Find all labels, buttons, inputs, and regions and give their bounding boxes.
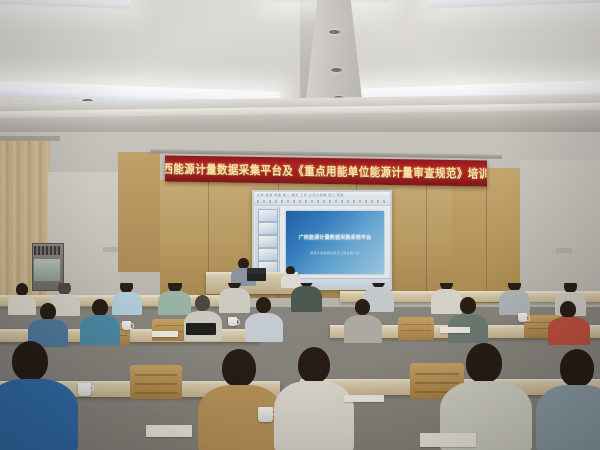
ppt-slide-stage: 广西能源计量数据采集系统平台 能源计量数据采集与上报系统介绍	[281, 207, 388, 278]
slide-subtitle: 能源计量数据采集与上报系统介绍	[286, 251, 384, 255]
banner-text: 广西能源计量数据采集平台及《重点用能单位能源计量审查规范》培训班	[165, 160, 487, 183]
paper-cup	[518, 313, 527, 322]
handout-paper	[344, 395, 384, 402]
curtain-rod	[0, 136, 60, 141]
handout-paper	[440, 327, 470, 333]
cabinet-grill	[34, 246, 60, 255]
audience-area	[0, 283, 600, 450]
paper-cup	[78, 383, 91, 396]
handout-paper	[420, 433, 476, 447]
chair-back	[398, 317, 434, 340]
handout-paper	[152, 331, 178, 337]
slide-thumbnail[interactable]	[258, 235, 278, 248]
wood-panel-left	[118, 152, 160, 272]
wall-sign-left	[103, 247, 119, 252]
chair-back	[130, 365, 182, 399]
downlight-icon	[331, 68, 342, 72]
downlight-icon	[329, 30, 340, 34]
handout-paper	[146, 425, 192, 437]
slide-thumbnail[interactable]	[258, 209, 278, 222]
ppt-toolbar-icons	[257, 200, 385, 203]
chair-back	[152, 319, 186, 341]
attendee-laptop	[186, 323, 216, 335]
paper-cup	[122, 321, 131, 330]
event-banner: 广西能源计量数据采集平台及《重点用能单位能源计量审查规范》培训班	[165, 155, 487, 186]
slide-thumbnail[interactable]	[258, 248, 278, 261]
wall-sign-right	[556, 248, 572, 253]
current-slide: 广西能源计量数据采集系统平台 能源计量数据采集与上报系统介绍	[286, 211, 384, 274]
conference-room-photo: 广西能源计量数据采集平台及《重点用能单位能源计量审查规范》培训班 文件 编辑 视…	[0, 0, 600, 450]
slide-thumbnail[interactable]	[258, 222, 278, 235]
paper-cup	[228, 317, 237, 326]
presenter-laptop-lid	[247, 268, 266, 274]
slide-title: 广西能源计量数据采集系统平台	[286, 234, 384, 241]
paper-cup	[258, 407, 273, 422]
cabinet-panel	[34, 259, 60, 281]
ppt-menu-labels: 文件 编辑 视图 插入 格式 工具 幻灯片放映 窗口 帮助	[257, 193, 344, 197]
